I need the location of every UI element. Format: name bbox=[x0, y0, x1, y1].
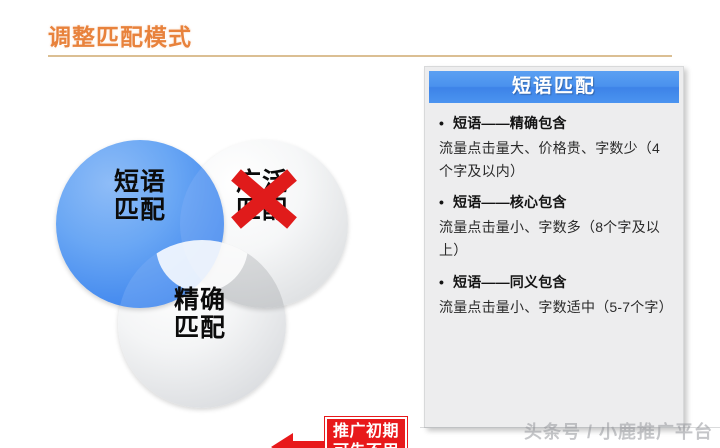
bullet-heading-row: • 短语——同义包含 bbox=[439, 272, 669, 293]
bullet-heading-row: • 短语——精确包含 bbox=[439, 113, 669, 134]
bullet-heading-text: 短语——同义包含 bbox=[453, 272, 669, 293]
list-item: • 短语——核心包含 流量点击量小、字数多（8个字及以上） bbox=[439, 192, 669, 261]
bullet-dot-icon: • bbox=[439, 113, 453, 134]
venn-label-exact-line1: 精确 bbox=[130, 286, 270, 314]
bullet-heading-text: 短语——核心包含 bbox=[453, 192, 669, 213]
panel-header-title: 短语匹配 bbox=[429, 71, 679, 103]
watermark: 头条号 / 小鹿推广平台 bbox=[524, 418, 713, 444]
venn-diagram: 短语 匹配 广泛 匹配 精确 匹配 推广初期 可先不用 bbox=[40, 120, 390, 410]
venn-label-exact-match: 精确 匹配 bbox=[130, 286, 270, 342]
bullet-dot-icon: • bbox=[439, 192, 453, 213]
red-arrow-icon bbox=[271, 430, 329, 448]
list-item: • 短语——精确包含 流量点击量大、价格贵、字数少（4个字及以内） bbox=[439, 113, 669, 182]
callout-note-line2: 可先不用 bbox=[333, 442, 399, 448]
list-item: • 短语——同义包含 流量点击量小、字数适中（5-7个字） bbox=[439, 272, 669, 319]
venn-label-phrase-line1: 短语 bbox=[70, 168, 210, 196]
phrase-match-panel: 短语匹配 • 短语——精确包含 流量点击量大、价格贵、字数少（4个字及以内） •… bbox=[424, 66, 684, 428]
red-cross-out-icon bbox=[228, 168, 300, 230]
venn-circle-phrase-match[interactable] bbox=[56, 140, 224, 308]
bullet-body-text: 流量点击量小、字数适中（5-7个字） bbox=[439, 296, 669, 319]
bullet-dot-icon: • bbox=[439, 272, 453, 293]
title-divider bbox=[48, 55, 672, 57]
bullet-body-text: 流量点击量大、价格贵、字数少（4个字及以内） bbox=[439, 137, 669, 182]
bullet-heading-text: 短语——精确包含 bbox=[453, 113, 669, 134]
venn-label-exact-line2: 匹配 bbox=[130, 314, 270, 342]
bullet-heading-row: • 短语——核心包含 bbox=[439, 192, 669, 213]
bullet-body-text: 流量点击量小、字数多（8个字及以上） bbox=[439, 216, 669, 261]
callout-note: 推广初期 可先不用 bbox=[325, 417, 407, 448]
page-title: 调整匹配模式 bbox=[48, 18, 192, 52]
panel-body: • 短语——精确包含 流量点击量大、价格贵、字数少（4个字及以内） • 短语——… bbox=[429, 107, 679, 423]
venn-label-phrase-match: 短语 匹配 bbox=[70, 168, 210, 224]
callout-note-line1: 推广初期 bbox=[333, 422, 399, 442]
slide-canvas: 调整匹配模式 短语 匹配 广泛 匹配 精确 匹配 bbox=[0, 0, 720, 448]
venn-label-phrase-line2: 匹配 bbox=[70, 196, 210, 224]
